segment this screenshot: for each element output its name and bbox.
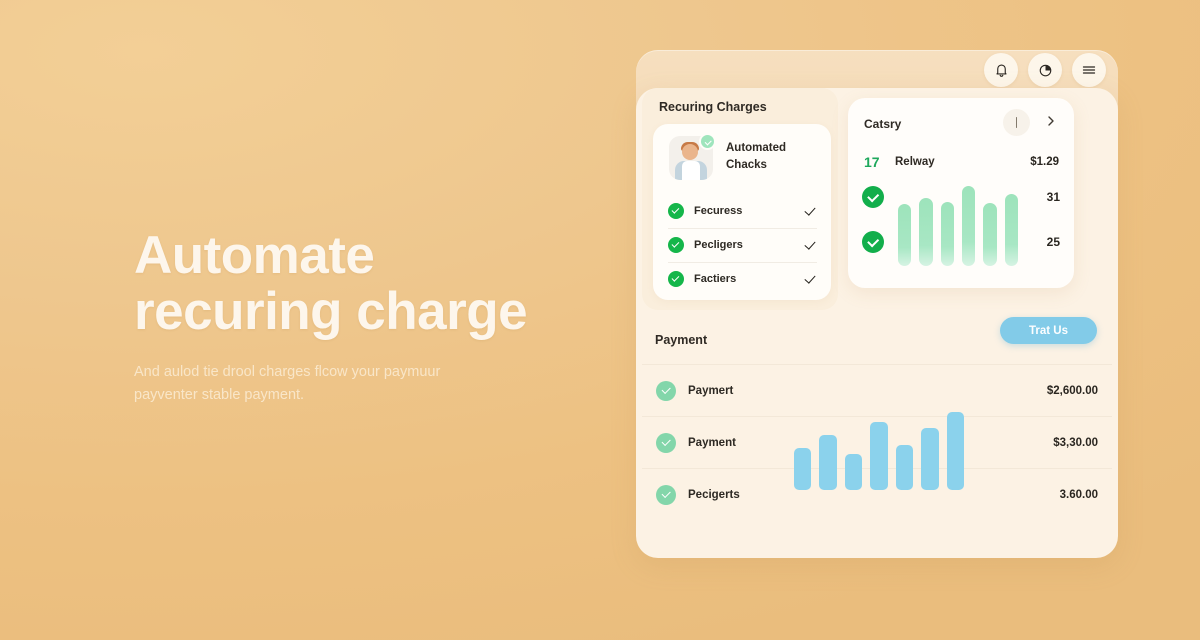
- automated-checks-label: Automated Chacks: [726, 140, 821, 175]
- check-circle-icon: [862, 231, 884, 253]
- avatar: [669, 136, 713, 180]
- hero-title-line2: recuring charge: [134, 284, 564, 340]
- chevron-right-icon: [1044, 115, 1058, 132]
- hamburger-menu-icon: [1081, 63, 1097, 77]
- chart-bar: [1005, 194, 1018, 266]
- next-button[interactable]: [1044, 114, 1058, 128]
- chart-bar: [898, 204, 911, 266]
- vertical-bar-icon: [1016, 117, 1018, 128]
- table-row[interactable]: Paymert $2,600.00: [642, 364, 1112, 416]
- category-bar-chart: [898, 176, 1018, 266]
- category-value: 31: [1047, 186, 1060, 208]
- list-item[interactable]: Pecligers: [653, 228, 831, 262]
- analytics-button[interactable]: [1028, 53, 1062, 87]
- verified-badge-icon: [699, 133, 716, 150]
- payment-row-amount: $3,30.00: [1053, 437, 1098, 449]
- table-row[interactable]: Payment $3,30.00: [642, 416, 1112, 468]
- payment-panel: Payment Trat Us Paymert $2,600.00 Paymen…: [642, 318, 1112, 500]
- list-item-label: Factiers: [694, 273, 805, 285]
- check-circle-icon: [656, 433, 676, 453]
- table-row[interactable]: Pecigerts 3.60.00: [642, 468, 1112, 520]
- trust-us-button[interactable]: Trat Us: [1000, 317, 1097, 344]
- recurring-charges-title: Recuring Charges: [659, 100, 767, 114]
- payment-row-label: Payment: [688, 437, 1053, 449]
- payment-row-label: Paymert: [688, 385, 1047, 397]
- category-options-button[interactable]: [1003, 109, 1030, 136]
- check-circle-icon: [668, 203, 684, 219]
- chart-bar: [941, 202, 954, 266]
- list-item-label: Fecuress: [694, 205, 805, 217]
- check-circle-icon: [668, 237, 684, 253]
- category-value: 25: [1047, 231, 1060, 253]
- top-cards-row: Recuring Charges Automated Chacks F: [642, 88, 1112, 310]
- category-values: 31 25: [1047, 186, 1060, 276]
- check-circle-icon: [862, 186, 884, 208]
- list-item[interactable]: Factiers: [653, 262, 831, 296]
- category-check-list: [862, 186, 884, 276]
- checkmark-icon: [805, 205, 817, 217]
- hero-title-line1: Automate: [134, 226, 374, 285]
- check-circle-icon: [656, 381, 676, 401]
- list-item[interactable]: Fecuress: [653, 194, 831, 228]
- category-count: 17: [864, 154, 880, 170]
- payment-rows: Paymert $2,600.00 Payment $3,30.00 Pecig…: [642, 364, 1112, 520]
- category-card: Catsry 17 Relway $1.29 31: [848, 98, 1074, 288]
- payment-header: Payment Trat Us: [642, 318, 1112, 364]
- checkmark-icon: [805, 239, 817, 251]
- bell-icon: [994, 63, 1009, 78]
- category-label: Relway: [895, 156, 935, 168]
- hero-section: Automate recuring charge And aulod tie d…: [134, 228, 564, 406]
- menu-button[interactable]: [1072, 53, 1106, 87]
- list-item-label: Pecligers: [694, 239, 805, 251]
- recurring-charges-card: Recuring Charges Automated Chacks F: [642, 88, 838, 310]
- chart-bar: [962, 186, 975, 266]
- hero-subtitle: And aulod tie drool charges flcow your p…: [134, 361, 484, 406]
- avatar-shirt: [682, 161, 700, 180]
- checkmark-icon: [805, 273, 817, 285]
- notification-button[interactable]: [984, 53, 1018, 87]
- chart-bar: [983, 203, 996, 266]
- pie-chart-icon: [1038, 63, 1053, 78]
- check-circle-icon: [668, 271, 684, 287]
- payment-title: Payment: [655, 333, 707, 347]
- payment-row-amount: 3.60.00: [1060, 489, 1098, 501]
- check-circle-icon: [656, 485, 676, 505]
- header-actions: [984, 53, 1106, 87]
- payment-row-label: Pecigerts: [688, 489, 1060, 501]
- chart-bar: [919, 198, 932, 266]
- dashboard-mockup: Pymert Autobard: [636, 36, 1118, 558]
- automated-checks-panel: Automated Chacks Fecuress Pecligers: [653, 124, 831, 300]
- recurring-items-list: Fecuress Pecligers Factiers: [653, 194, 831, 296]
- category-amount: $1.29: [1030, 156, 1059, 168]
- avatar-head: [682, 144, 698, 160]
- category-title: Catsry: [864, 117, 901, 131]
- payment-row-amount: $2,600.00: [1047, 385, 1098, 397]
- page-title: Automate recuring charge: [134, 228, 564, 339]
